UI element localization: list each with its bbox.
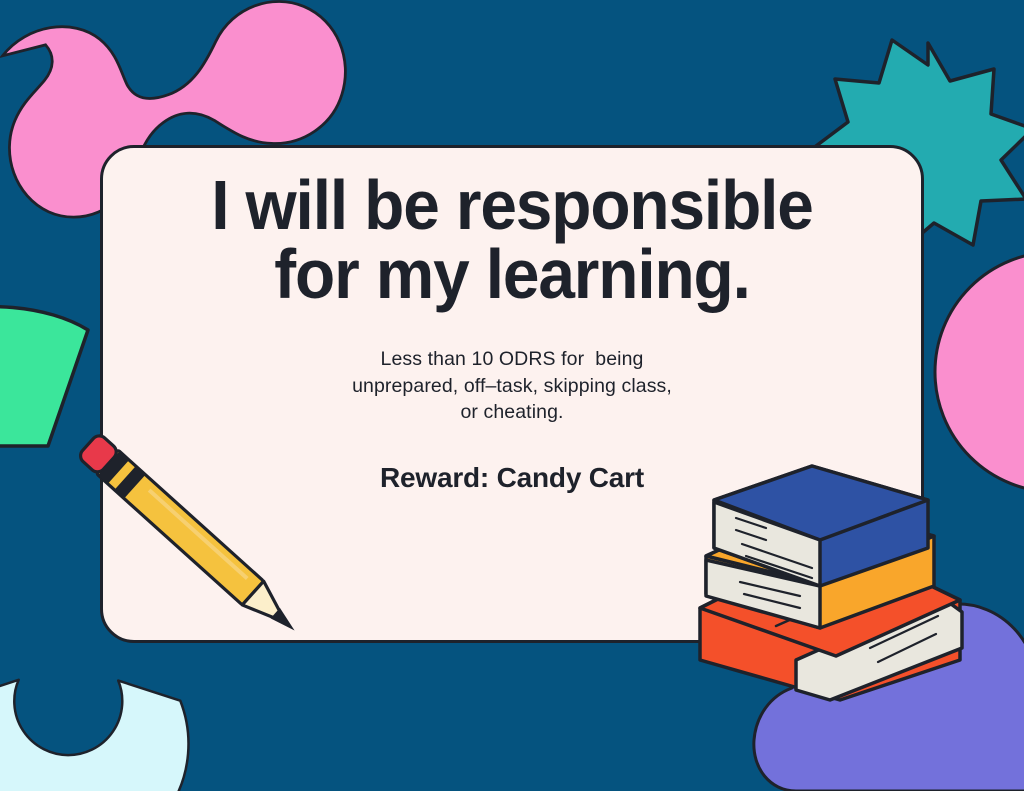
poster-canvas: I will be responsible for my learning. L…: [0, 0, 1024, 791]
pencil-icon: [77, 433, 305, 643]
book-stack-icon: [700, 466, 962, 700]
illustrations-layer: [0, 0, 1024, 791]
